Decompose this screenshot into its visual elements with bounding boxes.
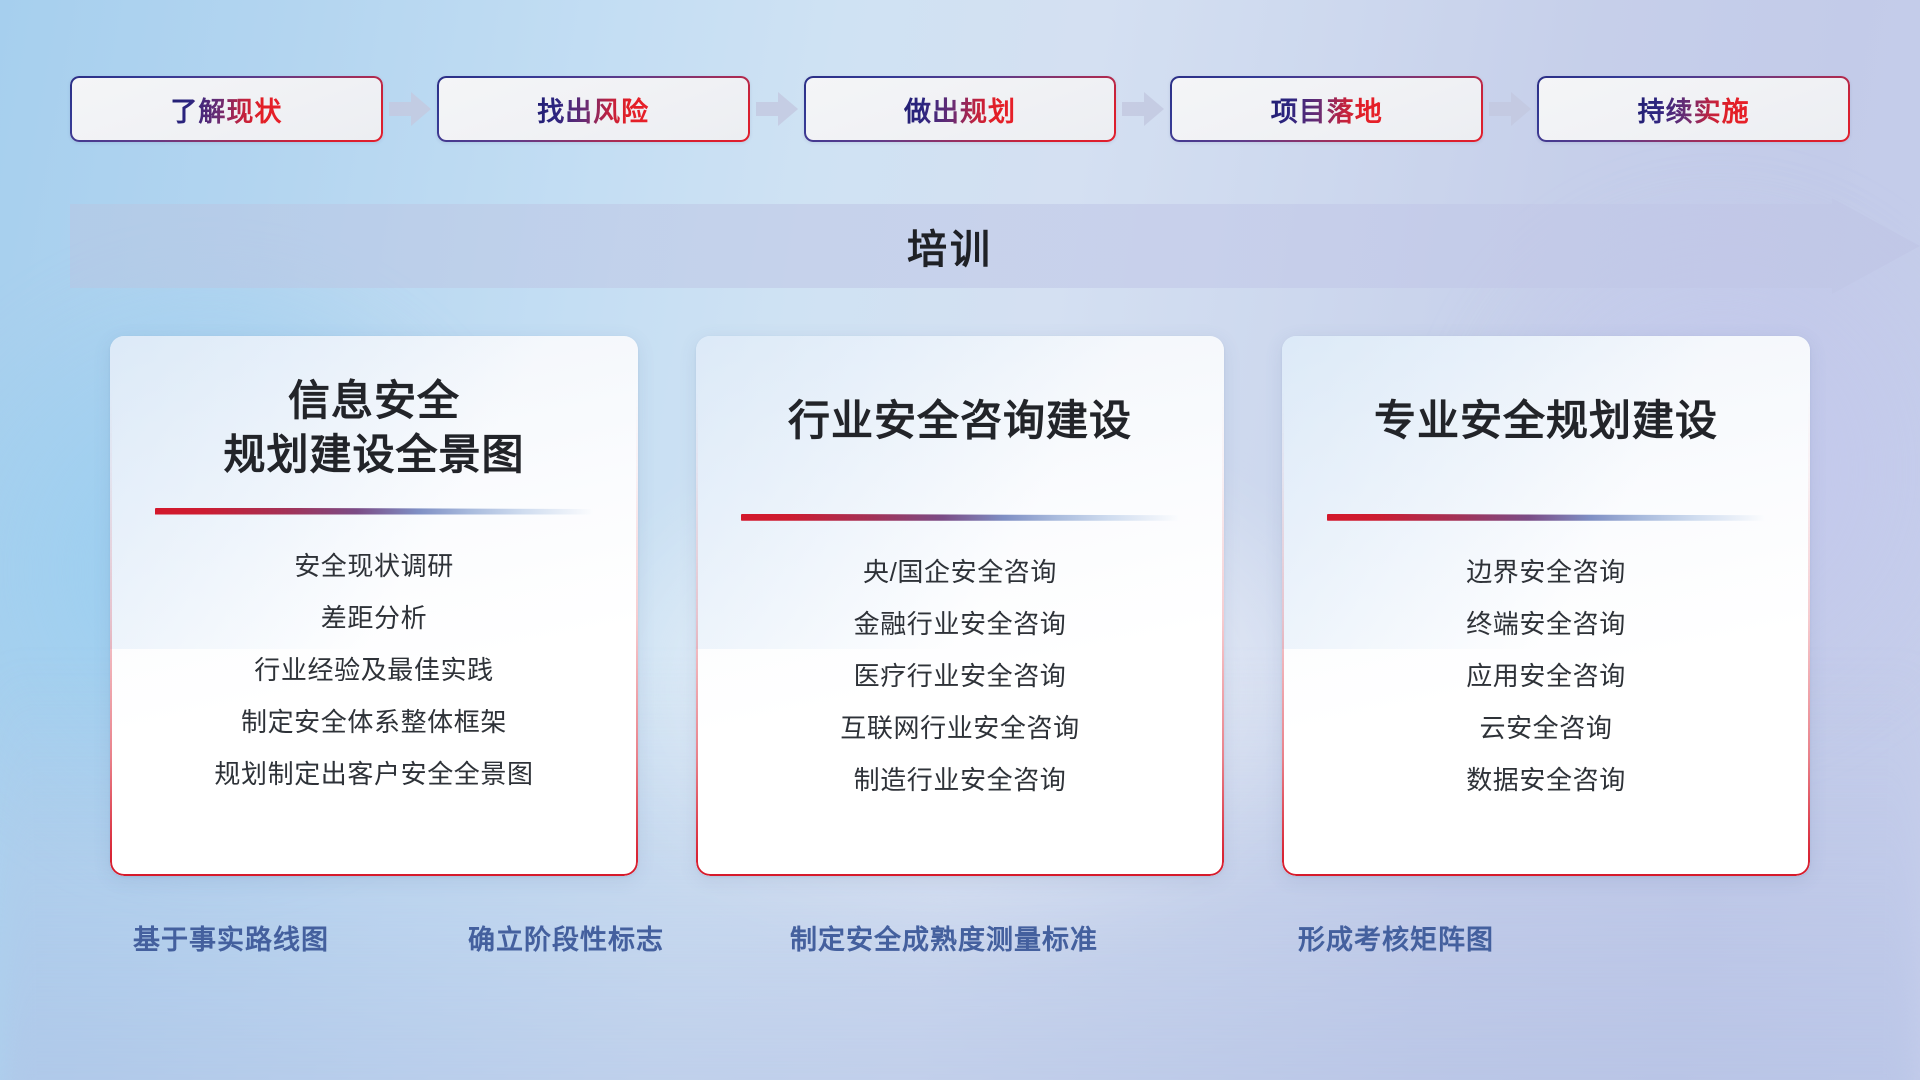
- list-item: 金融行业安全咨询: [696, 611, 1224, 637]
- list-item: 安全现状调研: [110, 553, 638, 579]
- arrow-right-icon: [1116, 76, 1170, 142]
- card-list-1: 安全现状调研 差距分析 行业经验及最佳实践 制定安全体系整体框架 规划制定出客户…: [110, 553, 638, 787]
- step-chip-2[interactable]: 找出风险: [437, 76, 750, 142]
- list-item: 终端安全咨询: [1282, 611, 1810, 637]
- card-title-2: 行业安全咨询建设: [728, 394, 1193, 448]
- footer-note-1: 基于事实路线图: [133, 918, 329, 957]
- service-card-row: 信息安全 规划建设全景图 安全现状调研 差距分析 行业经验及最佳实践 制定安全体…: [110, 336, 1810, 876]
- list-item: 行业经验及最佳实践: [110, 657, 638, 683]
- card-divider-3: [1327, 514, 1765, 521]
- step-label-5: 持续实施: [1638, 90, 1750, 129]
- step-chip-3[interactable]: 做出规划: [804, 76, 1117, 142]
- card-list-3: 边界安全咨询 终端安全咨询 应用安全咨询 云安全咨询 数据安全咨询: [1282, 559, 1810, 793]
- card-title-3: 专业安全规划建设: [1314, 394, 1779, 448]
- list-item: 差距分析: [110, 605, 638, 631]
- list-item: 制造行业安全咨询: [696, 767, 1224, 793]
- list-item: 互联网行业安全咨询: [696, 715, 1224, 741]
- footer-note-2: 确立阶段性标志: [468, 918, 664, 957]
- service-card-3[interactable]: 专业安全规划建设 边界安全咨询 终端安全咨询 应用安全咨询 云安全咨询 数据安全…: [1282, 336, 1810, 876]
- service-card-1[interactable]: 信息安全 规划建设全景图 安全现状调研 差距分析 行业经验及最佳实践 制定安全体…: [110, 336, 638, 876]
- step-label-2: 找出风险: [537, 90, 649, 129]
- list-item: 云安全咨询: [1282, 715, 1810, 741]
- list-item: 制定安全体系整体框架: [110, 709, 638, 735]
- list-item: 边界安全咨询: [1282, 559, 1810, 585]
- list-item: 规划制定出客户安全全景图: [110, 761, 638, 787]
- card-divider-1: [155, 508, 593, 515]
- step-label-3: 做出规划: [904, 90, 1016, 129]
- arrow-right-icon: [383, 76, 437, 142]
- arrow-right-icon: [750, 76, 804, 142]
- process-step-row: 了解现状 找出风险 做出规划 项目落地 持续实施: [70, 76, 1850, 142]
- list-item: 应用安全咨询: [1282, 663, 1810, 689]
- step-chip-4[interactable]: 项目落地: [1170, 76, 1483, 142]
- card-list-2: 央/国企安全咨询 金融行业安全咨询 医疗行业安全咨询 互联网行业安全咨询 制造行…: [696, 559, 1224, 793]
- footer-note-4: 形成考核矩阵图: [1298, 918, 1494, 957]
- service-card-2[interactable]: 行业安全咨询建设 央/国企安全咨询 金融行业安全咨询 医疗行业安全咨询 互联网行…: [696, 336, 1224, 876]
- training-banner: 培训: [70, 198, 1920, 294]
- list-item: 数据安全咨询: [1282, 767, 1810, 793]
- training-banner-label: 培训: [70, 198, 1920, 294]
- step-chip-1[interactable]: 了解现状: [70, 76, 383, 142]
- footer-note-3: 制定安全成熟度测量标准: [790, 918, 1098, 957]
- list-item: 央/国企安全咨询: [696, 559, 1224, 585]
- list-item: 医疗行业安全咨询: [696, 663, 1224, 689]
- step-label-1: 了解现状: [170, 90, 282, 129]
- card-title-1: 信息安全 规划建设全景图: [142, 374, 607, 482]
- arrow-right-icon: [1483, 76, 1537, 142]
- footer-note-row: 基于事实路线图 确立阶段性标志 制定安全成熟度测量标准 形成考核矩阵图: [0, 918, 1920, 968]
- card-divider-2: [741, 514, 1179, 521]
- step-chip-5[interactable]: 持续实施: [1537, 76, 1850, 142]
- step-label-4: 项目落地: [1271, 90, 1383, 129]
